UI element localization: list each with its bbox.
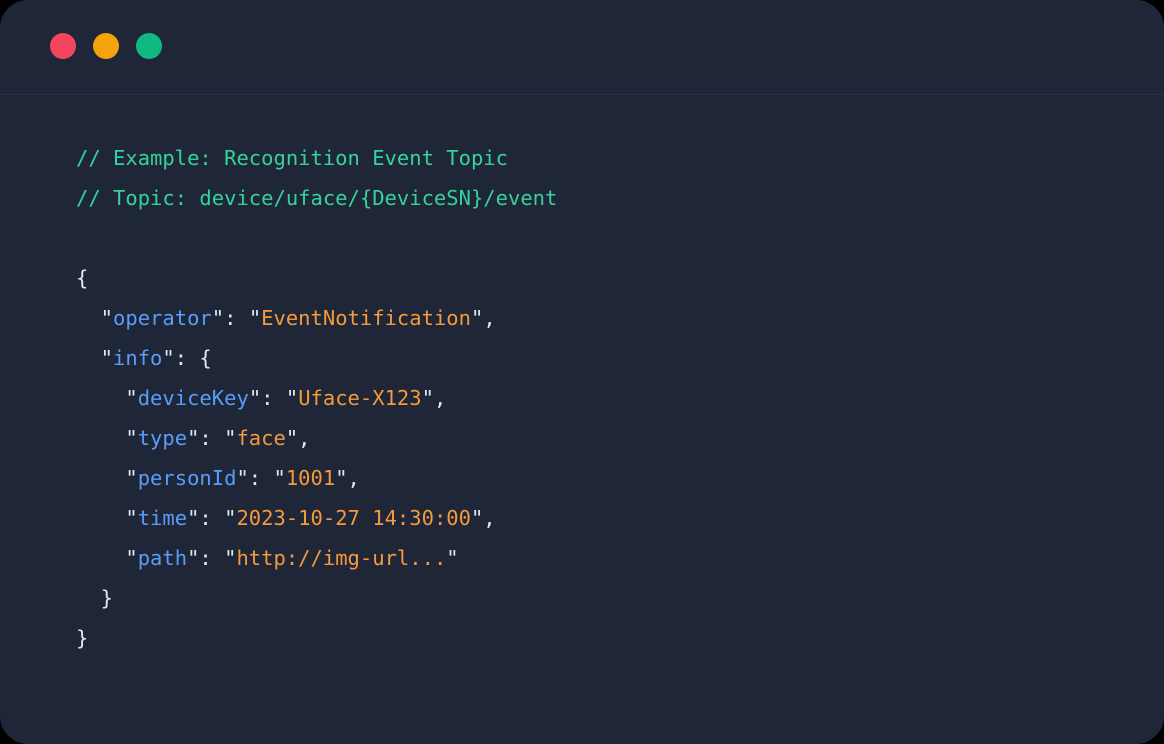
code-key: path <box>138 546 187 570</box>
window-titlebar <box>0 0 1164 95</box>
code-line: "info": { <box>76 338 1164 378</box>
code-value: face <box>236 426 285 450</box>
close-button[interactable] <box>50 33 76 59</box>
code-line: } <box>76 578 1164 618</box>
code-line: // Example: Recognition Event Topic <box>76 138 1164 178</box>
code-colon: ": <box>236 466 273 490</box>
code-key: time <box>138 506 187 530</box>
code-quote: " <box>274 466 286 490</box>
code-line: "operator": "EventNotification", <box>76 298 1164 338</box>
code-colon: ": <box>187 506 224 530</box>
code-line: // Topic: device/uface/{DeviceSN}/event <box>76 178 1164 218</box>
code-quote: " <box>76 426 138 450</box>
code-brace: { <box>76 266 88 290</box>
code-quote: " <box>76 386 138 410</box>
code-quote: ", <box>335 466 360 490</box>
code-colon: ": <box>249 386 286 410</box>
code-key: personId <box>138 466 237 490</box>
code-colon: ": <box>212 306 249 330</box>
code-object-open: ": { <box>162 346 211 370</box>
code-value: http://img-url... <box>236 546 446 570</box>
code-quote: ", <box>422 386 447 410</box>
code-quote: " <box>224 506 236 530</box>
code-line <box>76 218 1164 258</box>
code-line: } <box>76 618 1164 658</box>
code-value: Uface-X123 <box>298 386 421 410</box>
code-quote: ", <box>286 426 311 450</box>
code-quote: " <box>224 546 236 570</box>
window-controls <box>50 33 162 59</box>
code-quote: " <box>286 386 298 410</box>
code-quote: " <box>76 546 138 570</box>
code-value: 1001 <box>286 466 335 490</box>
code-block[interactable]: // Example: Recognition Event Topic// To… <box>0 95 1164 744</box>
code-brace: } <box>76 626 88 650</box>
code-value: 2023-10-27 14:30:00 <box>236 506 471 530</box>
code-brace: } <box>76 586 113 610</box>
code-line: "time": "2023-10-27 14:30:00", <box>76 498 1164 538</box>
code-snippet-window: // Example: Recognition Event Topic// To… <box>0 0 1164 744</box>
code-quote: " <box>224 426 236 450</box>
code-key: deviceKey <box>138 386 249 410</box>
code-quote: " <box>76 506 138 530</box>
code-comment: // Example: Recognition Event Topic <box>76 146 508 170</box>
maximize-button[interactable] <box>136 33 162 59</box>
code-line: { <box>76 258 1164 298</box>
code-value: EventNotification <box>261 306 471 330</box>
code-quote: ", <box>471 306 496 330</box>
code-line: "path": "http://img-url..." <box>76 538 1164 578</box>
code-key: info <box>113 346 162 370</box>
code-quote: " <box>76 346 113 370</box>
code-quote: ", <box>471 506 496 530</box>
code-comment: // Topic: device/uface/{DeviceSN}/event <box>76 186 557 210</box>
code-line: "deviceKey": "Uface-X123", <box>76 378 1164 418</box>
code-key: operator <box>113 306 212 330</box>
code-colon: ": <box>187 546 224 570</box>
code-key: type <box>138 426 187 450</box>
code-quote: " <box>249 306 261 330</box>
code-quote: " <box>446 546 458 570</box>
code-colon: ": <box>187 426 224 450</box>
code-quote: " <box>76 466 138 490</box>
minimize-button[interactable] <box>93 33 119 59</box>
code-quote: " <box>76 306 113 330</box>
code-line: "type": "face", <box>76 418 1164 458</box>
code-line: "personId": "1001", <box>76 458 1164 498</box>
